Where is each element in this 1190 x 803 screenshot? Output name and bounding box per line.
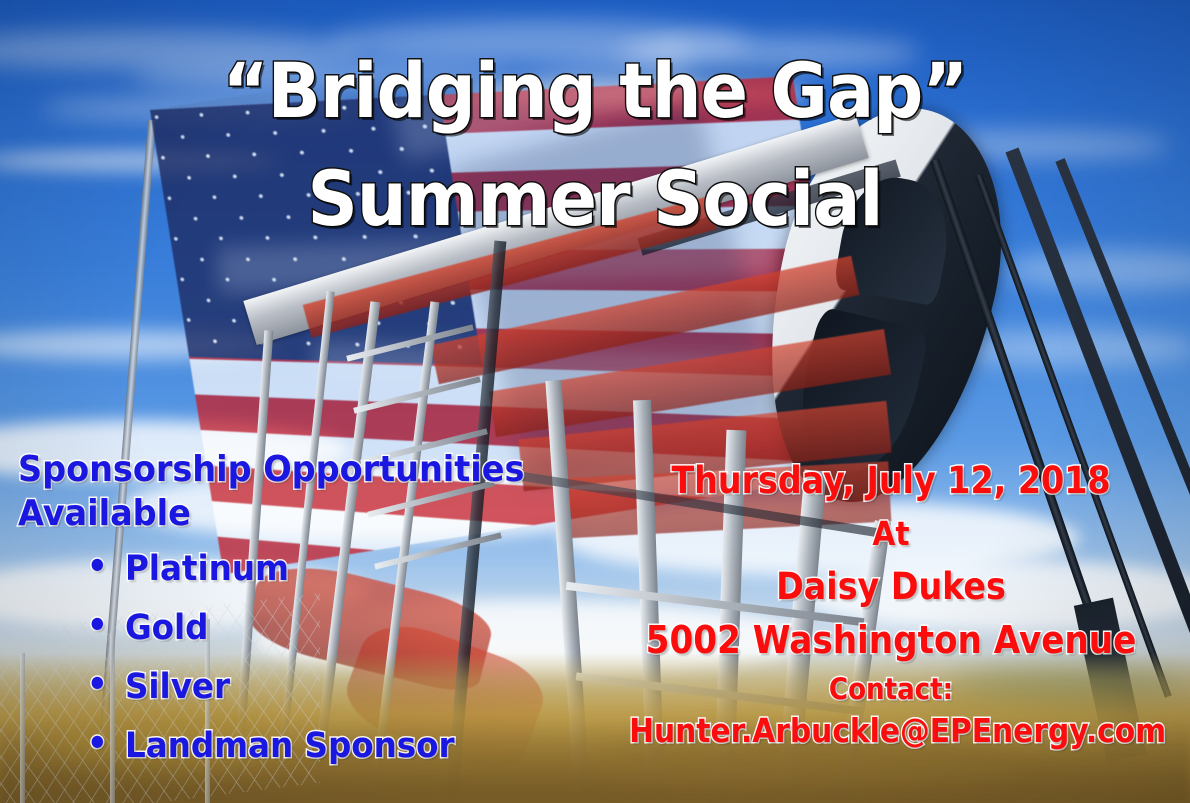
event-date: Thursday, July 12, 2018 xyxy=(629,462,1153,499)
bullet-icon: • xyxy=(87,727,108,762)
bullet-icon: • xyxy=(87,550,108,585)
poster-title-line1: “Bridging the Gap” xyxy=(48,52,1143,130)
contact-label: Contact: xyxy=(629,675,1153,704)
sponsorship-heading-line1: Sponsorship Opportunities xyxy=(18,448,539,492)
event-venue: Daisy Dukes xyxy=(629,568,1153,605)
sponsorship-heading-line2: Available xyxy=(18,492,539,536)
list-item: • Platinum xyxy=(18,552,539,611)
bullet-icon: • xyxy=(87,609,108,644)
sponsorship-heading: Sponsorship Opportunities Available xyxy=(18,448,539,536)
bullet-icon: • xyxy=(87,668,108,703)
event-address: 5002 Washington Avenue xyxy=(629,621,1153,659)
sponsorship-tier-list: • Platinum • Gold • Silver • Landman Spo… xyxy=(18,552,578,788)
list-item: • Silver xyxy=(18,670,539,729)
poster-canvas: “Bridging the Gap” Summer Social Sponsor… xyxy=(0,0,1190,803)
list-item: • Gold xyxy=(18,611,539,670)
sponsorship-tier-label: Gold xyxy=(125,608,209,648)
sponsorship-tier-label: Platinum xyxy=(125,549,289,589)
list-item: • Landman Sponsor xyxy=(18,729,539,788)
poster-title-line2: Summer Social xyxy=(48,160,1143,238)
contact-email[interactable]: Hunter.Arbuckle@EPEnergy.com xyxy=(629,714,1153,747)
event-at-label: At xyxy=(629,517,1153,550)
event-details: Thursday, July 12, 2018 At Daisy Dukes 5… xyxy=(600,462,1182,747)
sponsorship-tier-label: Landman Sponsor xyxy=(125,726,455,766)
sponsorship-tier-label: Silver xyxy=(125,667,230,707)
